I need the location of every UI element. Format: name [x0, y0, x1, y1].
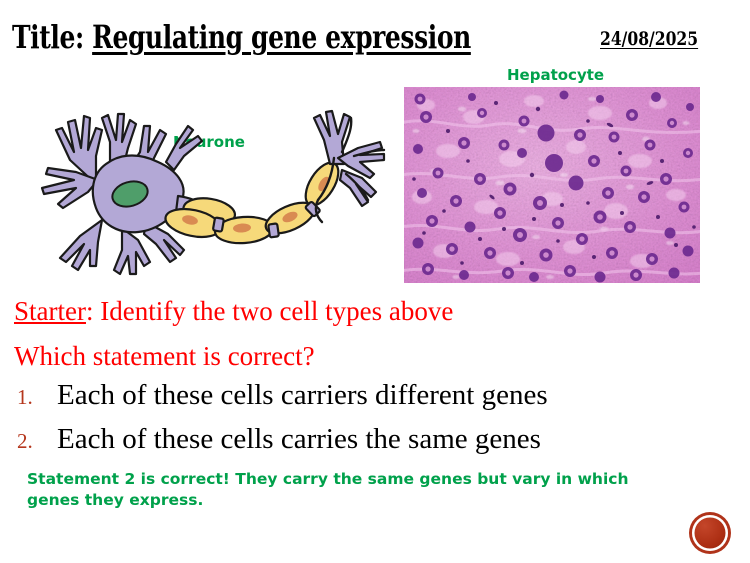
date-label: 24/08/2025: [600, 28, 698, 50]
question-line: Which statement is correct?: [14, 341, 315, 372]
title-main: Regulating gene expression: [92, 18, 471, 56]
slide-canvas: Title: Regulating gene expression 24/08/…: [0, 0, 750, 563]
options-list: 1. Each of these cells carriers differen…: [0, 379, 750, 467]
list-item-label: Each of these cells carriers different g…: [57, 379, 548, 412]
list-item[interactable]: 1. Each of these cells carriers differen…: [0, 379, 750, 423]
hepatocyte-micrograph: [404, 87, 700, 283]
node-of-ranvier-2: [268, 223, 279, 237]
hepatocyte-label: Hepatocyte: [507, 66, 604, 84]
header: Title: Regulating gene expression 24/08/…: [0, 8, 750, 60]
neurone-diagram: [18, 100, 388, 280]
answer-text: Statement 2 is correct! They carry the s…: [27, 469, 677, 511]
round-accent-button[interactable]: [692, 515, 728, 551]
page-title: Title: Regulating gene expression: [12, 18, 471, 56]
title-prefix: Title:: [12, 18, 84, 56]
list-item[interactable]: 2. Each of these cells carries the same …: [0, 423, 750, 467]
dendrite-lower-left: [60, 220, 102, 270]
list-item-number: 1.: [17, 385, 33, 410]
starter-text: : Identify the two cell types above: [86, 296, 453, 326]
starter-label: Starter: [14, 296, 86, 326]
dendrite-right-upper: [166, 126, 202, 170]
starter-line: Starter: Identify the two cell types abo…: [14, 296, 453, 327]
node-of-ranvier-1: [213, 217, 224, 231]
list-item-label: Each of these cells carries the same gen…: [57, 423, 541, 456]
list-item-number: 2.: [17, 429, 33, 454]
